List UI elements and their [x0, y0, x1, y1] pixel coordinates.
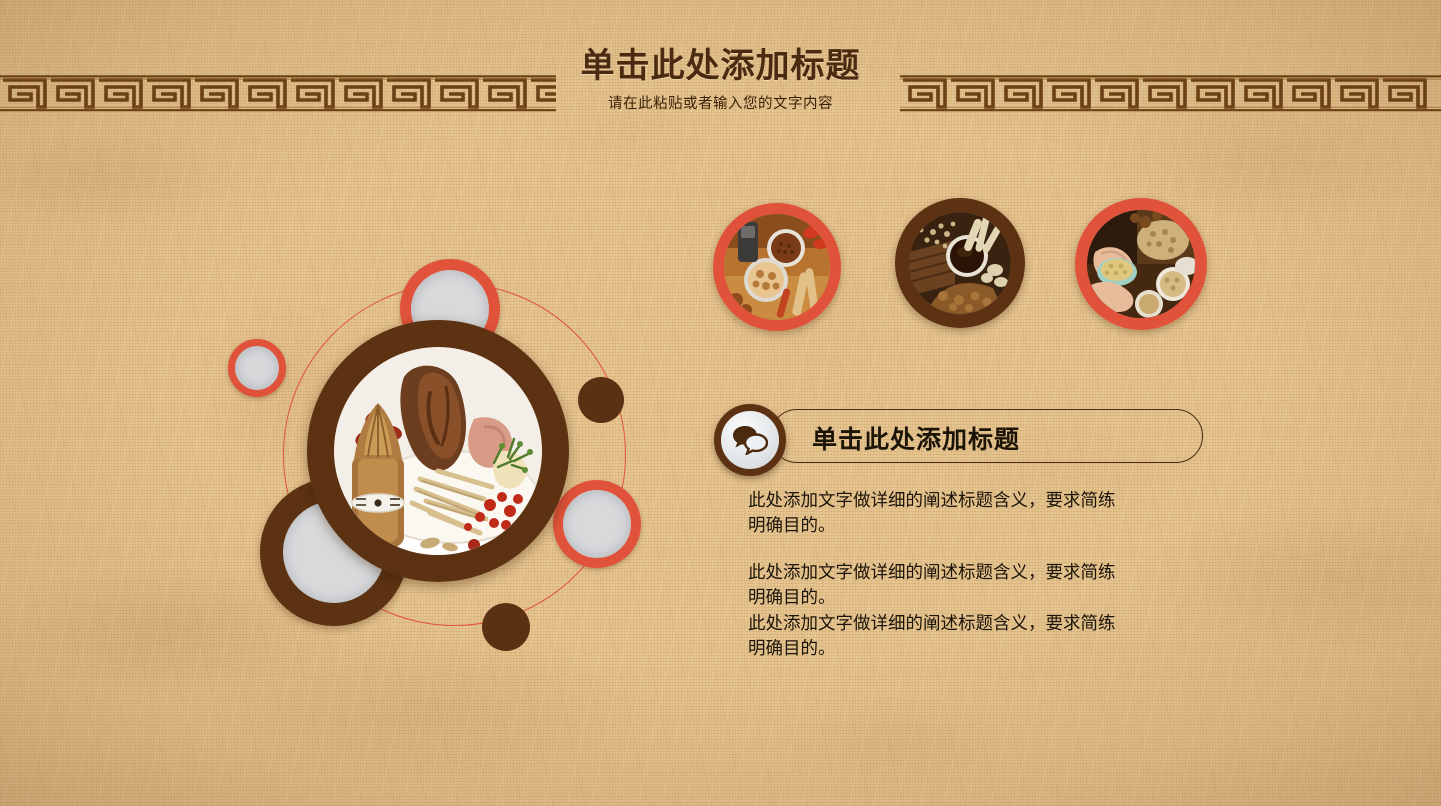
placeholder-circle-right [553, 480, 641, 568]
body-paragraph-1[interactable]: 此处添加文字做详细的阐述标题含义，要求简练 明确目的。 [748, 488, 1218, 538]
presentation-slide: 单击此处添加标题 请在此粘贴或者输入您的文字内容 [0, 0, 1441, 806]
background-vignette [0, 0, 1441, 806]
greek-key-border-right [900, 74, 1441, 112]
placeholder-circle-left [228, 339, 286, 397]
thumbnail-herbs-and-spices-bowls[interactable] [713, 203, 841, 331]
medicinal-herb-stew-dish [334, 347, 542, 555]
dot-bottom [482, 603, 530, 651]
thumbnail-hands-holding-grain-bowl[interactable] [1075, 198, 1207, 330]
dot-right [578, 377, 624, 423]
body-paragraph-3[interactable]: 此处添加文字做详细的阐述标题含义，要求简练 明确目的。 [748, 611, 1218, 661]
body-copy-block: 此处添加文字做详细的阐述标题含义，要求简练 明确目的。 此处添加文字做详细的阐述… [748, 488, 1218, 661]
thumbnail-herbal-tea-bowl-cinnamon[interactable] [895, 198, 1025, 328]
section-heading-label: 单击此处添加标题 [812, 420, 1020, 456]
greek-key-border-left [0, 74, 556, 112]
speech-bubbles-icon[interactable] [714, 404, 786, 476]
body-paragraph-2[interactable]: 此处添加文字做详细的阐述标题含义，要求简练 明确目的。 [748, 560, 1218, 610]
feature-image-circle[interactable] [307, 320, 569, 582]
